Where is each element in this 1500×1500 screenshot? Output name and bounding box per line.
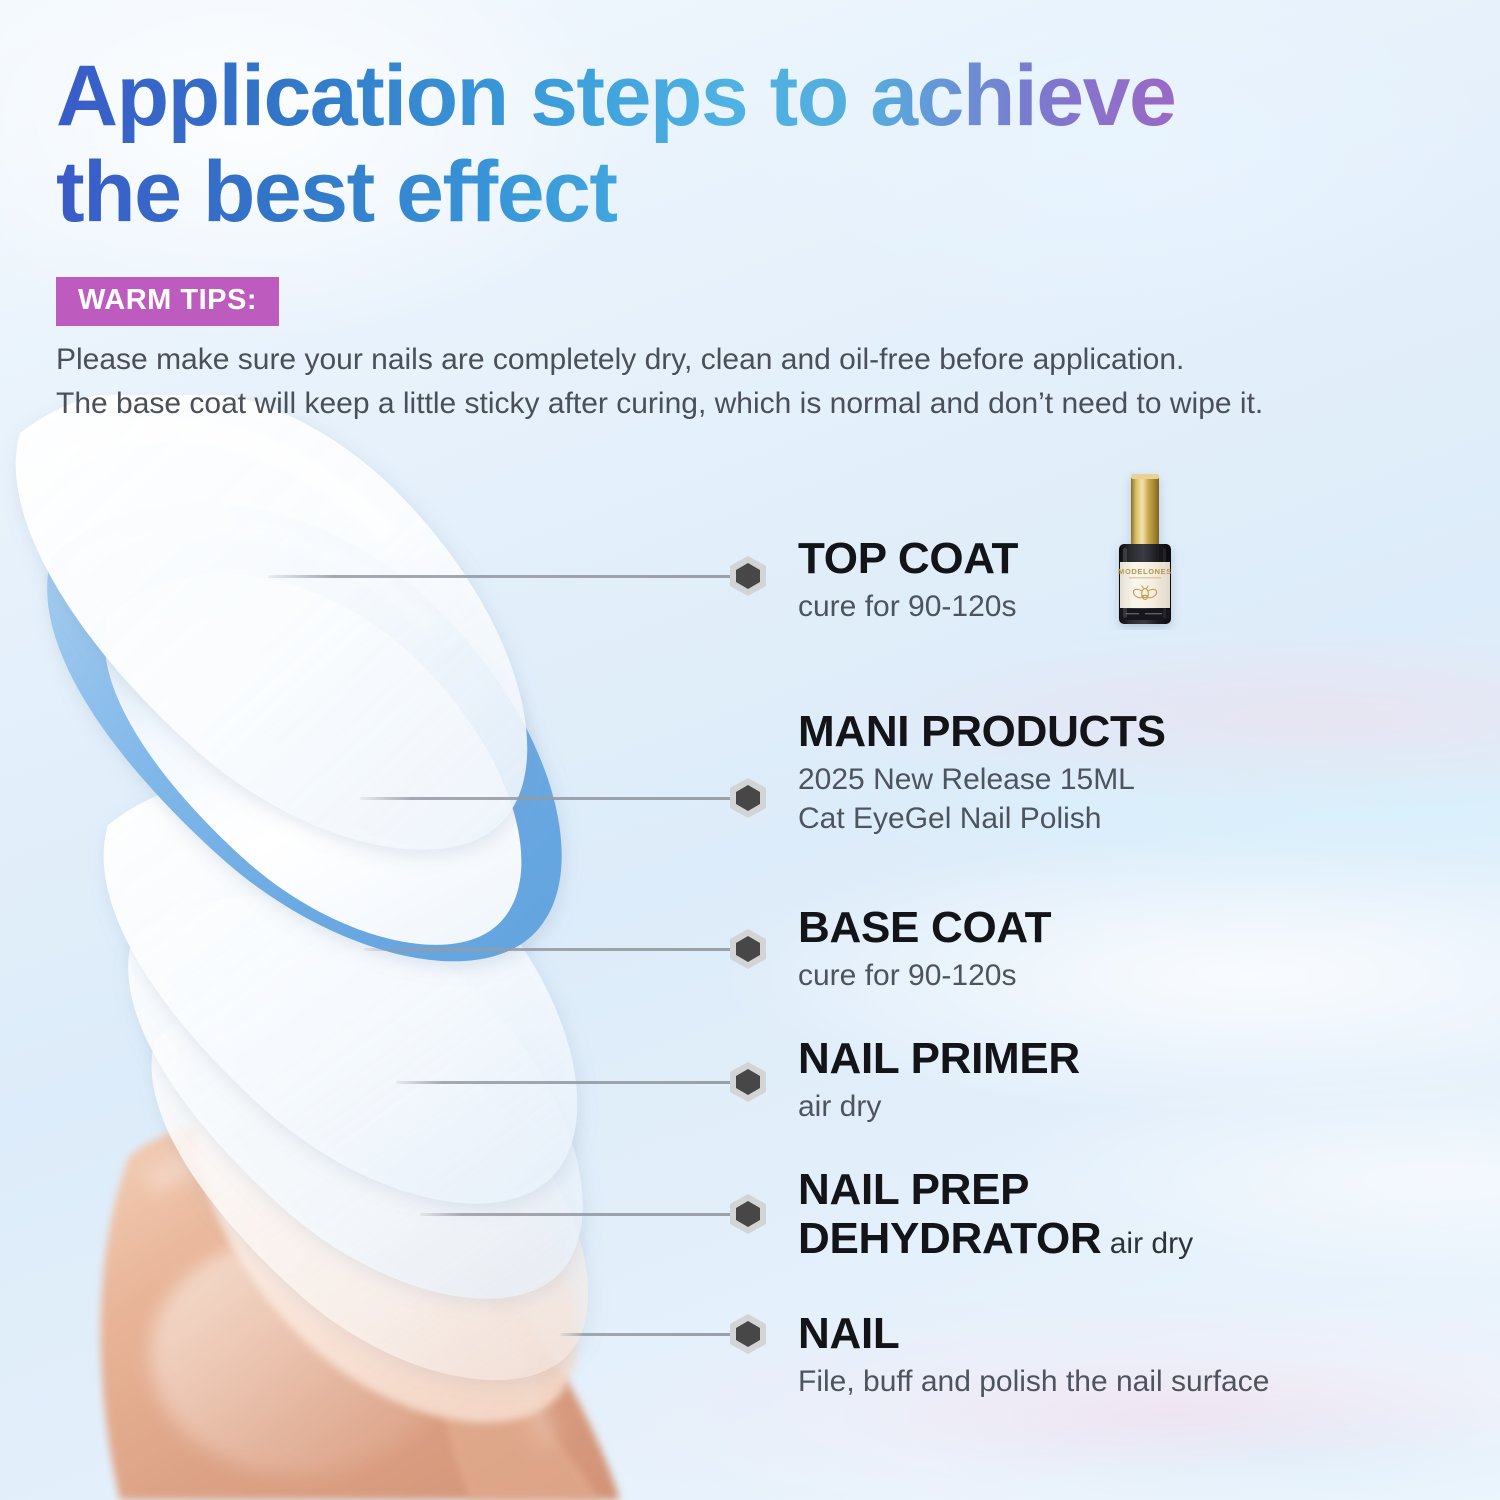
step-nail-primer: NAIL PRIMER air dry [798,1034,1080,1126]
hexagon-marker-icon [726,927,770,971]
warm-tips-body: Please make sure your nails are complete… [56,338,1456,427]
tip-line-1: Please make sure your nails are complete… [56,338,1456,382]
step-sub-line: 2025 New Release 15ML [798,760,1166,799]
product-bottle-image: MODELONES [1107,470,1183,630]
step-sub-nail-primer: air dry [798,1087,1080,1126]
step-base-coat: BASE COAT cure for 90-120s [798,903,1051,995]
step-sub-top-coat: cure for 90-120s [798,587,1018,626]
step-title-nail-primer: NAIL PRIMER [798,1034,1080,1083]
hexagon-marker-icon [726,1312,770,1356]
step-title-nail-prep-dehydrator: NAIL PREP DEHYDRATOR air dry [798,1165,1218,1264]
step-nail-prep-dehydrator: NAIL PREP DEHYDRATOR air dry [798,1165,1218,1264]
step-sub-line: cure for 90-120s [798,956,1051,995]
step-top-coat: TOP COAT cure for 90-120s [798,534,1018,626]
leader-line-base-coat [364,948,733,951]
step-title-top-coat: TOP COAT [798,534,1018,583]
step-sub-line: air dry [798,1087,1080,1126]
step-mani-products: MANI PRODUCTS 2025 New Release 15ML Cat … [798,707,1166,838]
hexagon-marker-icon [726,1192,770,1236]
step-sub-nail: File, buff and polish the nail surface [798,1362,1269,1401]
hexagon-marker-icon [726,776,770,820]
leader-line-mani-products [360,797,733,800]
step-sub-base-coat: cure for 90-120s [798,956,1051,995]
title-line-2: the best effect [56,144,1456,240]
leader-line-top-coat [268,575,733,578]
step-inline-note: air dry [1101,1227,1193,1260]
hexagon-marker-icon [726,554,770,598]
step-title-base-coat: BASE COAT [798,903,1051,952]
infographic-poster: Application steps to achieve the best ef… [0,0,1500,1500]
step-sub-line: cure for 90-120s [798,587,1018,626]
step-sub-line: File, buff and polish the nail surface [798,1362,1269,1401]
step-title-nail: NAIL [798,1309,1269,1358]
title-line-1: Application steps to achieve [56,48,1456,144]
leader-line-nail [560,1333,733,1336]
step-title-mani-products: MANI PRODUCTS [798,707,1166,756]
hexagon-marker-icon [726,1060,770,1104]
top-coat-layer [16,395,528,850]
step-nail: NAIL File, buff and polish the nail surf… [798,1309,1269,1401]
page-title: Application steps to achieve the best ef… [56,48,1456,241]
tip-line-2: The base coat will keep a little sticky … [56,382,1456,426]
step-sub-mani-products: 2025 New Release 15ML Cat EyeGel Nail Po… [798,760,1166,838]
step-title-text: NAIL PREP DEHYDRATOR [798,1165,1101,1263]
step-sub-line: Cat EyeGel Nail Polish [798,799,1166,838]
leader-line-dehydrator [420,1213,733,1216]
warm-tips-badge: WARM TIPS: [56,277,279,326]
leader-line-nail-primer [396,1081,733,1084]
